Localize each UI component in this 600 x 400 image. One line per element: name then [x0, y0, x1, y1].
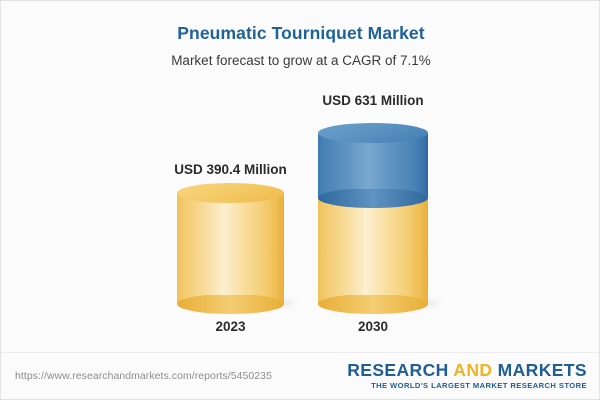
bar-base-ellipse-2030 — [318, 294, 428, 314]
bar-segment-base-overlay-2030 — [318, 198, 428, 295]
bar-group-2023[interactable]: USD 390.4 Million 2023 — [177, 1, 284, 351]
bar-segment-growth-base-ellipse-2030 — [318, 188, 428, 208]
bar-group-2030[interactable]: USD 631 Million 2030 — [318, 1, 428, 351]
bar-value-label-2023: USD 390.4 Million — [131, 162, 331, 177]
plot-area: USD 390.4 Million 2023 USD 631 Million — [1, 1, 600, 351]
bar-top-cap-2023 — [177, 183, 284, 203]
source-url-link[interactable]: https://www.researchandmarkets.com/repor… — [15, 370, 272, 382]
brand-word-markets: MARKETS — [498, 360, 587, 380]
bar-top-cap-2030 — [318, 123, 428, 143]
bar-base-ellipse-2023 — [177, 294, 284, 314]
chart-canvas: Pneumatic Tourniquet Market Market forec… — [0, 0, 600, 400]
brand-tagline: THE WORLD'S LARGEST MARKET RESEARCH STOR… — [347, 381, 587, 391]
bar-value-label-2030: USD 631 Million — [273, 93, 473, 108]
brand-word-research: RESEARCH — [347, 360, 448, 380]
category-label-2030: 2030 — [273, 319, 473, 334]
brand-wordmark: RESEARCH AND MARKETS — [347, 361, 587, 380]
brand-word-and: AND — [453, 360, 492, 380]
footer: https://www.researchandmarkets.com/repor… — [1, 352, 600, 400]
bar-body-overlay-2023 — [177, 193, 284, 295]
brand-logo[interactable]: RESEARCH AND MARKETS THE WORLD'S LARGEST… — [347, 361, 587, 391]
